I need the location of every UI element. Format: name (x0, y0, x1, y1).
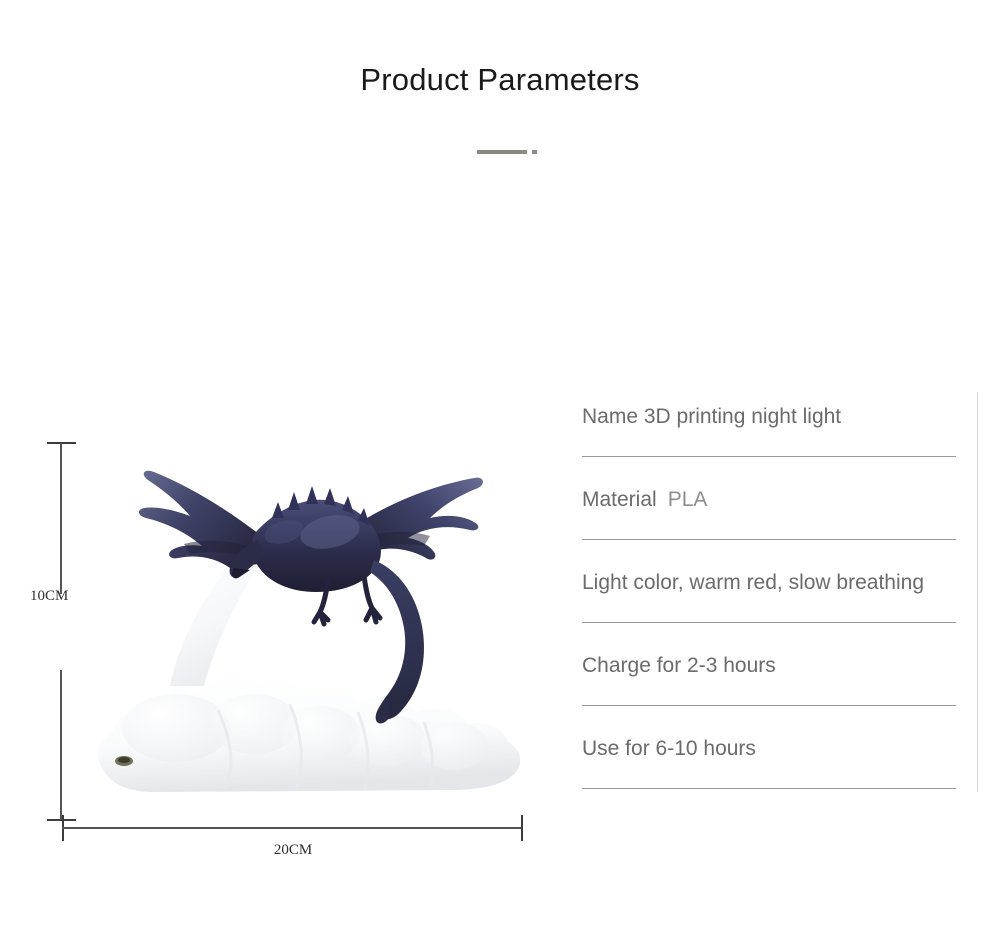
spec-row-name: Name 3D printing night light (581, 392, 979, 442)
spec-row-material: MaterialPLA (581, 475, 979, 525)
product-figure: 10CM 20CM (30, 420, 550, 870)
product-image (58, 428, 558, 818)
spec-divider-2 (582, 539, 956, 540)
spec-divider-1 (582, 456, 956, 457)
dimension-width-label: 20CM (58, 842, 528, 859)
page-title: Product Parameters (0, 60, 1000, 100)
cloud-base (98, 678, 520, 792)
spec-row-light-color: Light color, warm red, slow breathing (581, 558, 979, 608)
spec-row-charge: Charge for 2-3 hours (581, 641, 979, 691)
title-divider-bar (477, 150, 527, 154)
spec-row-use-label: Use for 6-10 hours (582, 737, 756, 760)
spec-row-charge-label: Charge for 2-3 hours (582, 654, 776, 677)
charging-port-icon (115, 756, 133, 766)
spec-row-material-value: PLA (657, 488, 708, 511)
spec-row-name-text: Name 3D printing night light (582, 404, 841, 430)
dimension-width-rule (62, 827, 523, 829)
title-divider-dot (532, 150, 537, 154)
spec-row-light-color-label: Light color, warm red, slow breathing (582, 571, 924, 594)
spec-row-material-text: MaterialPLA (582, 487, 707, 513)
spec-row-light-color-text: Light color, warm red, slow breathing (582, 570, 924, 596)
title-divider (477, 150, 537, 154)
spec-divider-3 (582, 622, 956, 623)
dimension-height (30, 438, 110, 838)
spec-divider-4 (582, 705, 956, 706)
dimension-height-stem-lower (60, 670, 62, 820)
spec-divider-5 (582, 788, 956, 789)
spec-row-material-label: Material (582, 488, 657, 511)
spec-row-name-label: Name 3D printing night light (582, 405, 841, 428)
dimension-height-stem-upper (60, 443, 62, 594)
spec-row-use: Use for 6-10 hours (581, 724, 979, 774)
spec-row-charge-text: Charge for 2-3 hours (582, 653, 776, 679)
dimension-width: 20CM (58, 810, 558, 865)
dimension-width-cap-right (521, 815, 523, 841)
spec-list: Name 3D printing night light MaterialPLA… (581, 392, 979, 792)
spec-row-use-text: Use for 6-10 hours (582, 736, 756, 762)
dimension-height-label: 10CM (30, 588, 104, 605)
